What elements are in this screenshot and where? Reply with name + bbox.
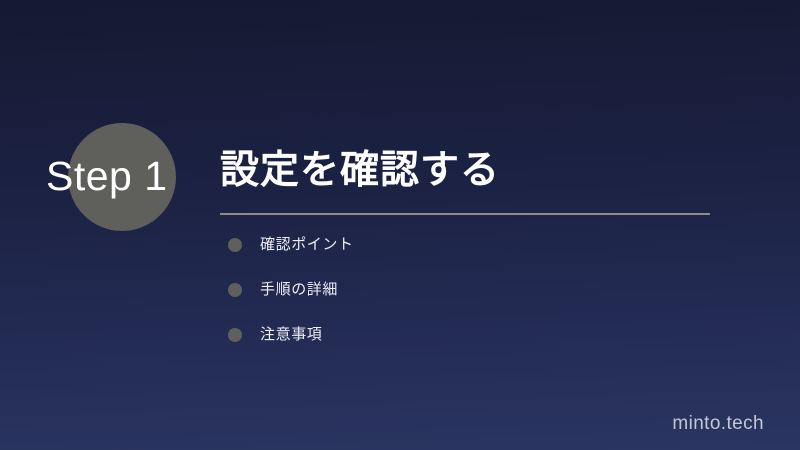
list-item: 確認ポイント — [220, 233, 720, 257]
slide-title: 設定を確認する — [220, 146, 720, 196]
bullet-dot-icon — [228, 238, 242, 252]
slide-content-column: 設定を確認する 確認ポイント 手順の詳細 注意事項 — [220, 146, 720, 368]
title-divider — [220, 213, 710, 215]
list-item-label: 注意事項 — [260, 323, 322, 347]
watermark-brand: minto.tech — [672, 413, 764, 435]
list-item: 手順の詳細 — [220, 278, 720, 302]
list-item: 注意事項 — [220, 323, 720, 347]
bullet-dot-icon — [228, 328, 242, 342]
list-item-label: 手順の詳細 — [260, 278, 338, 302]
bullet-dot-icon — [228, 283, 242, 297]
bullet-list: 確認ポイント 手順の詳細 注意事項 — [220, 233, 720, 347]
presentation-slide: Step 1 設定を確認する 確認ポイント 手順の詳細 注意事項 minto.t… — [0, 0, 800, 450]
list-item-label: 確認ポイント — [260, 233, 354, 257]
step-number-label: Step 1 — [46, 150, 206, 202]
